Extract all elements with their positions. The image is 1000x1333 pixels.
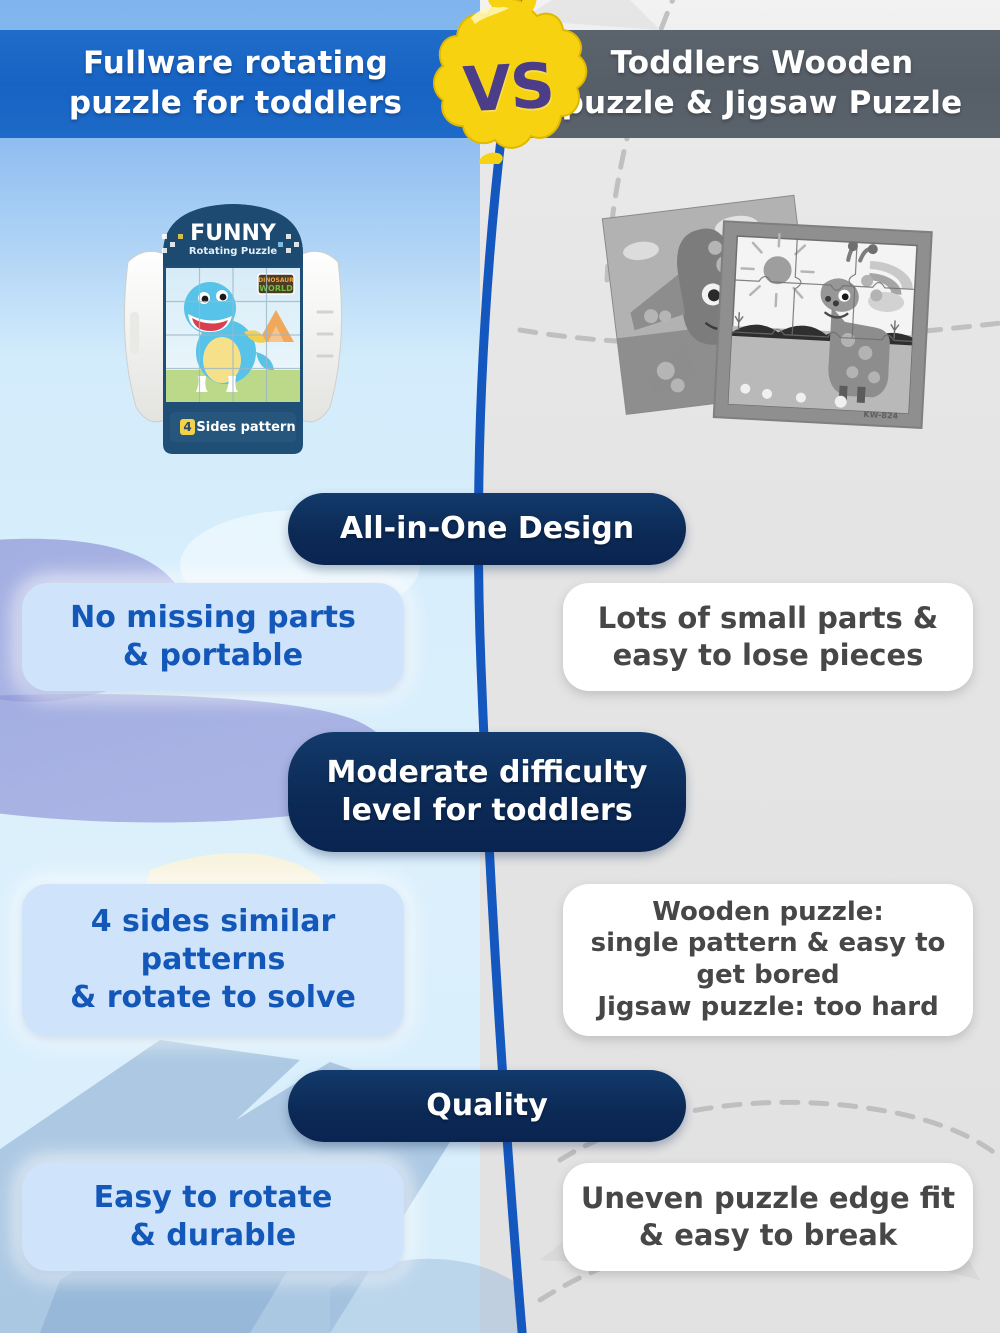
infographic-root: Fullware rotating puzzle for toddlers To… xyxy=(0,0,1000,1333)
left-feature-card-2: Easy to rotate & durable xyxy=(22,1163,404,1271)
comparison-title-2: Quality xyxy=(408,1087,566,1125)
wooden-puzzles-product-image: KW-824 xyxy=(598,190,958,460)
svg-text:FUNNY: FUNNY xyxy=(190,221,277,246)
vs-label: VS xyxy=(422,0,596,177)
left-feature-card-0: No missing parts & portable xyxy=(22,583,404,691)
board-code-label: KW-824 xyxy=(863,410,899,421)
svg-text:WORLD: WORLD xyxy=(259,284,293,293)
right-feature-card-1: Wooden puzzle: single pattern & easy to … xyxy=(563,884,973,1036)
right-feature-text-2: Uneven puzzle edge fit & easy to break xyxy=(567,1180,969,1254)
left-feature-text-1: 4 sides similar patterns & rotate to sol… xyxy=(56,903,370,1017)
comparison-title-pill-0: All-in-One Design xyxy=(288,493,686,565)
svg-text:DINOSAUR: DINOSAUR xyxy=(258,277,294,284)
right-feature-text-0: Lots of small parts & easy to lose piece… xyxy=(584,600,952,674)
rotating-puzzle-product-image: FUNNY Rotating Puzzle xyxy=(118,192,348,462)
left-feature-card-1: 4 sides similar patterns & rotate to sol… xyxy=(22,884,404,1036)
comparison-title-pill-1: Moderate difficulty level for toddlers xyxy=(288,732,686,852)
left-feature-text-0: No missing parts & portable xyxy=(56,599,370,675)
comparison-title-pill-2: Quality xyxy=(288,1070,686,1142)
svg-text:Rotating Puzzle: Rotating Puzzle xyxy=(189,246,278,257)
wooden-giraffe-puzzle: KW-824 xyxy=(714,221,932,428)
svg-text:4: 4 xyxy=(183,420,191,434)
vs-badge: VS xyxy=(425,0,590,164)
svg-text:Sides pattern: Sides pattern xyxy=(196,420,295,435)
right-feature-card-0: Lots of small parts & easy to lose piece… xyxy=(563,583,973,691)
right-feature-text-1: Wooden puzzle: single pattern & easy to … xyxy=(577,897,960,1024)
right-feature-card-2: Uneven puzzle edge fit & easy to break xyxy=(563,1163,973,1271)
comparison-title-0: All-in-One Design xyxy=(322,510,652,548)
left-feature-text-2: Easy to rotate & durable xyxy=(80,1179,347,1255)
comparison-title-1: Moderate difficulty level for toddlers xyxy=(288,754,686,830)
